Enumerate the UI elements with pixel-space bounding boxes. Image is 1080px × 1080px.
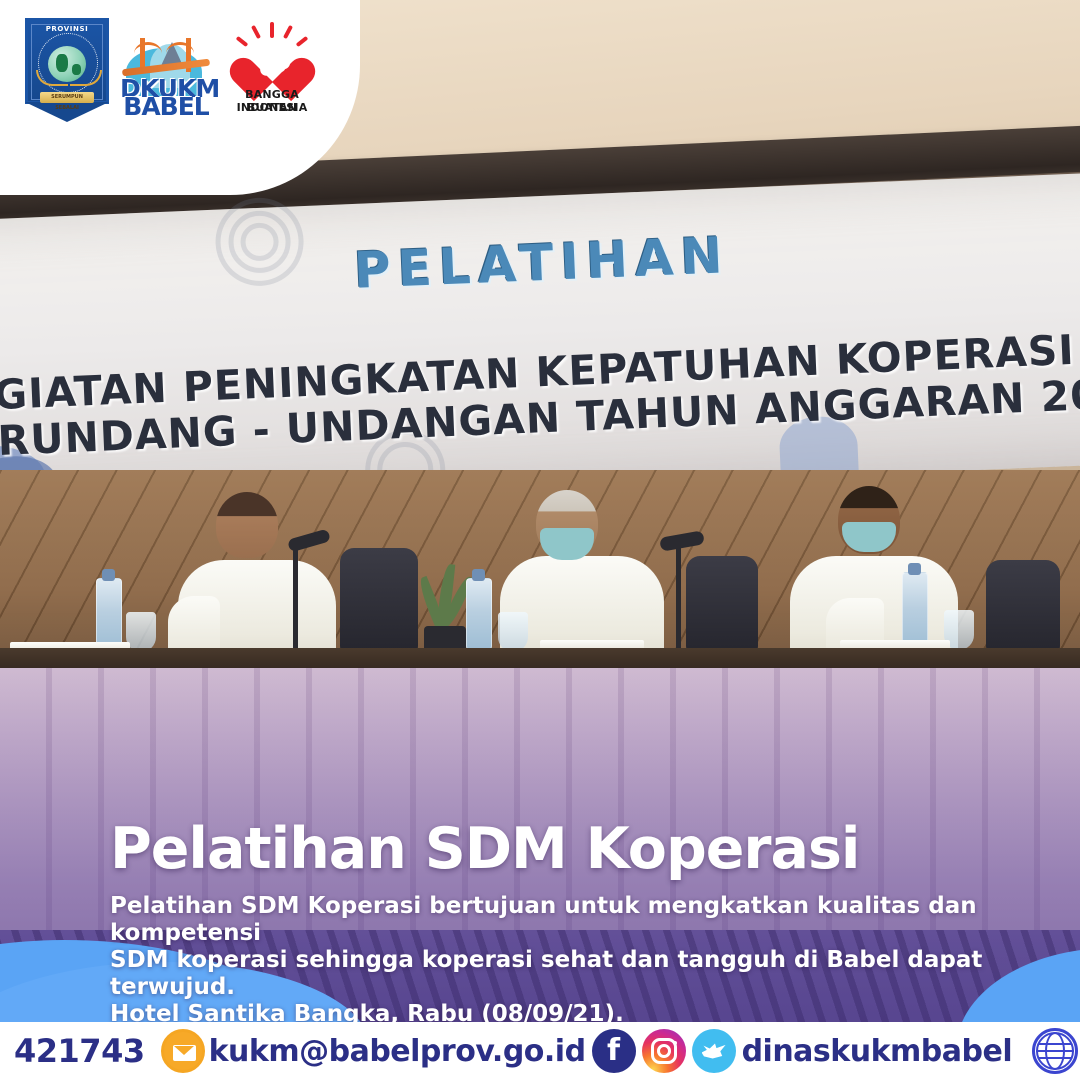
caption-line-1: Pelatihan SDM Koperasi bertujuan untuk m… [110, 893, 1010, 947]
chair-back [686, 556, 758, 660]
water-bottle [96, 578, 122, 652]
drinking-glass [498, 612, 528, 652]
social-contact[interactable]: f dinaskukmbabel [586, 1029, 1013, 1073]
dkukm-babel-logo: DKUKM BABEL [120, 26, 212, 116]
social-media-poster: PELATIHAN KEGIATAN PENINGKATAN KEPATUHAN… [0, 0, 1080, 1080]
drinking-glass [126, 612, 156, 652]
email-contact[interactable]: kukm@babelprov.go.id [145, 1029, 586, 1073]
bangga-buatan-indonesia-logo: BANGGA BUATAN INDONESIA [220, 22, 324, 122]
website-contact[interactable]: kukm.babelprov.go.id [1012, 1028, 1080, 1074]
globe-icon [1032, 1028, 1078, 1074]
logo-row: PROVINSI SERUMPUN SEBALAI DKUKM BABEL [22, 16, 324, 122]
social-handle: dinaskukmbabel [742, 1034, 1013, 1069]
twitter-icon[interactable] [692, 1029, 736, 1073]
microphone-stand [293, 546, 298, 664]
contact-footer-bar: 421743 kukm@babelprov.go.id f dinaskukmb… [0, 1022, 1080, 1080]
emblem-ribbon-text: SERUMPUN SEBALAI [40, 92, 94, 114]
instagram-icon[interactable] [642, 1029, 686, 1073]
caption-line-2: SDM koperasi sehingga koperasi sehat dan… [110, 947, 1010, 1001]
chair-back [340, 548, 418, 660]
banner-headline: PELATIHAN [0, 208, 1080, 317]
water-bottle [466, 578, 492, 652]
dkukm-logo-line2: BABEL [120, 92, 212, 121]
caption-body: Pelatihan SDM Koperasi bertujuan untuk m… [110, 893, 1010, 1028]
mail-icon [161, 1029, 205, 1073]
microphone-stand [676, 546, 681, 662]
email-address: kukm@babelprov.go.id [209, 1034, 586, 1069]
caption-block: Pelatihan SDM Koperasi Pelatihan SDM Kop… [110, 818, 1010, 1028]
event-backdrop-banner: PELATIHAN KEGIATAN PENINGKATAN KEPATUHAN… [0, 170, 1080, 513]
phone-number: 421743 [14, 1032, 145, 1070]
phone-contact: 421743 [0, 1032, 145, 1070]
bangka-belitung-province-emblem: PROVINSI SERUMPUN SEBALAI [22, 16, 112, 122]
facebook-icon[interactable]: f [592, 1029, 636, 1073]
bbi-logo-line2: INDONESIA [220, 101, 324, 114]
emblem-provinsi-text: PROVINSI [22, 25, 112, 33]
chair-back [986, 560, 1060, 660]
page-title: Pelatihan SDM Koperasi [110, 818, 1010, 880]
